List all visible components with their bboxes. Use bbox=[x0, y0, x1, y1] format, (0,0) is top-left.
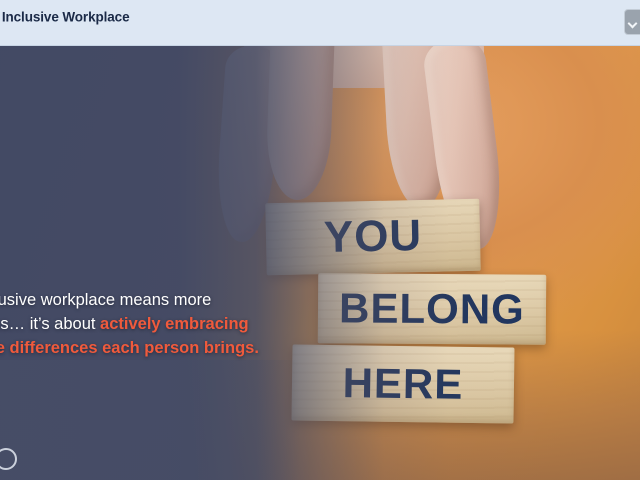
carousel-dot-3[interactable] bbox=[0, 448, 17, 470]
chevron-down-icon bbox=[628, 19, 638, 29]
caption-line-3-highlight: aluing the differences each person bring… bbox=[0, 339, 259, 357]
carousel-dots bbox=[0, 448, 17, 470]
hero-caption: ng an inclusive workplace means more ust… bbox=[0, 288, 397, 360]
caption-line-1: ng an inclusive workplace means more bbox=[0, 288, 397, 312]
page-header: Briefs® The Inclusive Workplace ion bbox=[0, 0, 640, 45]
page-title: Briefs® The Inclusive Workplace bbox=[0, 4, 640, 27]
caption-line-2-plain: ust policies… it’s about bbox=[0, 315, 100, 333]
caption-line-2: ust policies… it’s about actively embrac… bbox=[0, 312, 397, 336]
hero-overlay-bottom bbox=[0, 360, 300, 480]
header-content: Briefs® The Inclusive Workplace ion bbox=[0, 0, 640, 45]
caption-line-2-highlight: actively embracing bbox=[100, 315, 249, 333]
page-title-rest: The Inclusive Workplace bbox=[0, 10, 130, 25]
caption-line-3: aluing the differences each person bring… bbox=[0, 336, 397, 360]
header-dropdown-button[interactable] bbox=[624, 9, 640, 35]
page-root: Briefs® The Inclusive Workplace ion YOU … bbox=[0, 0, 640, 480]
hero-slide: YOU BELONG HERE ng an inclusive workplac… bbox=[0, 46, 640, 480]
page-subtitle: ion bbox=[0, 28, 640, 44]
